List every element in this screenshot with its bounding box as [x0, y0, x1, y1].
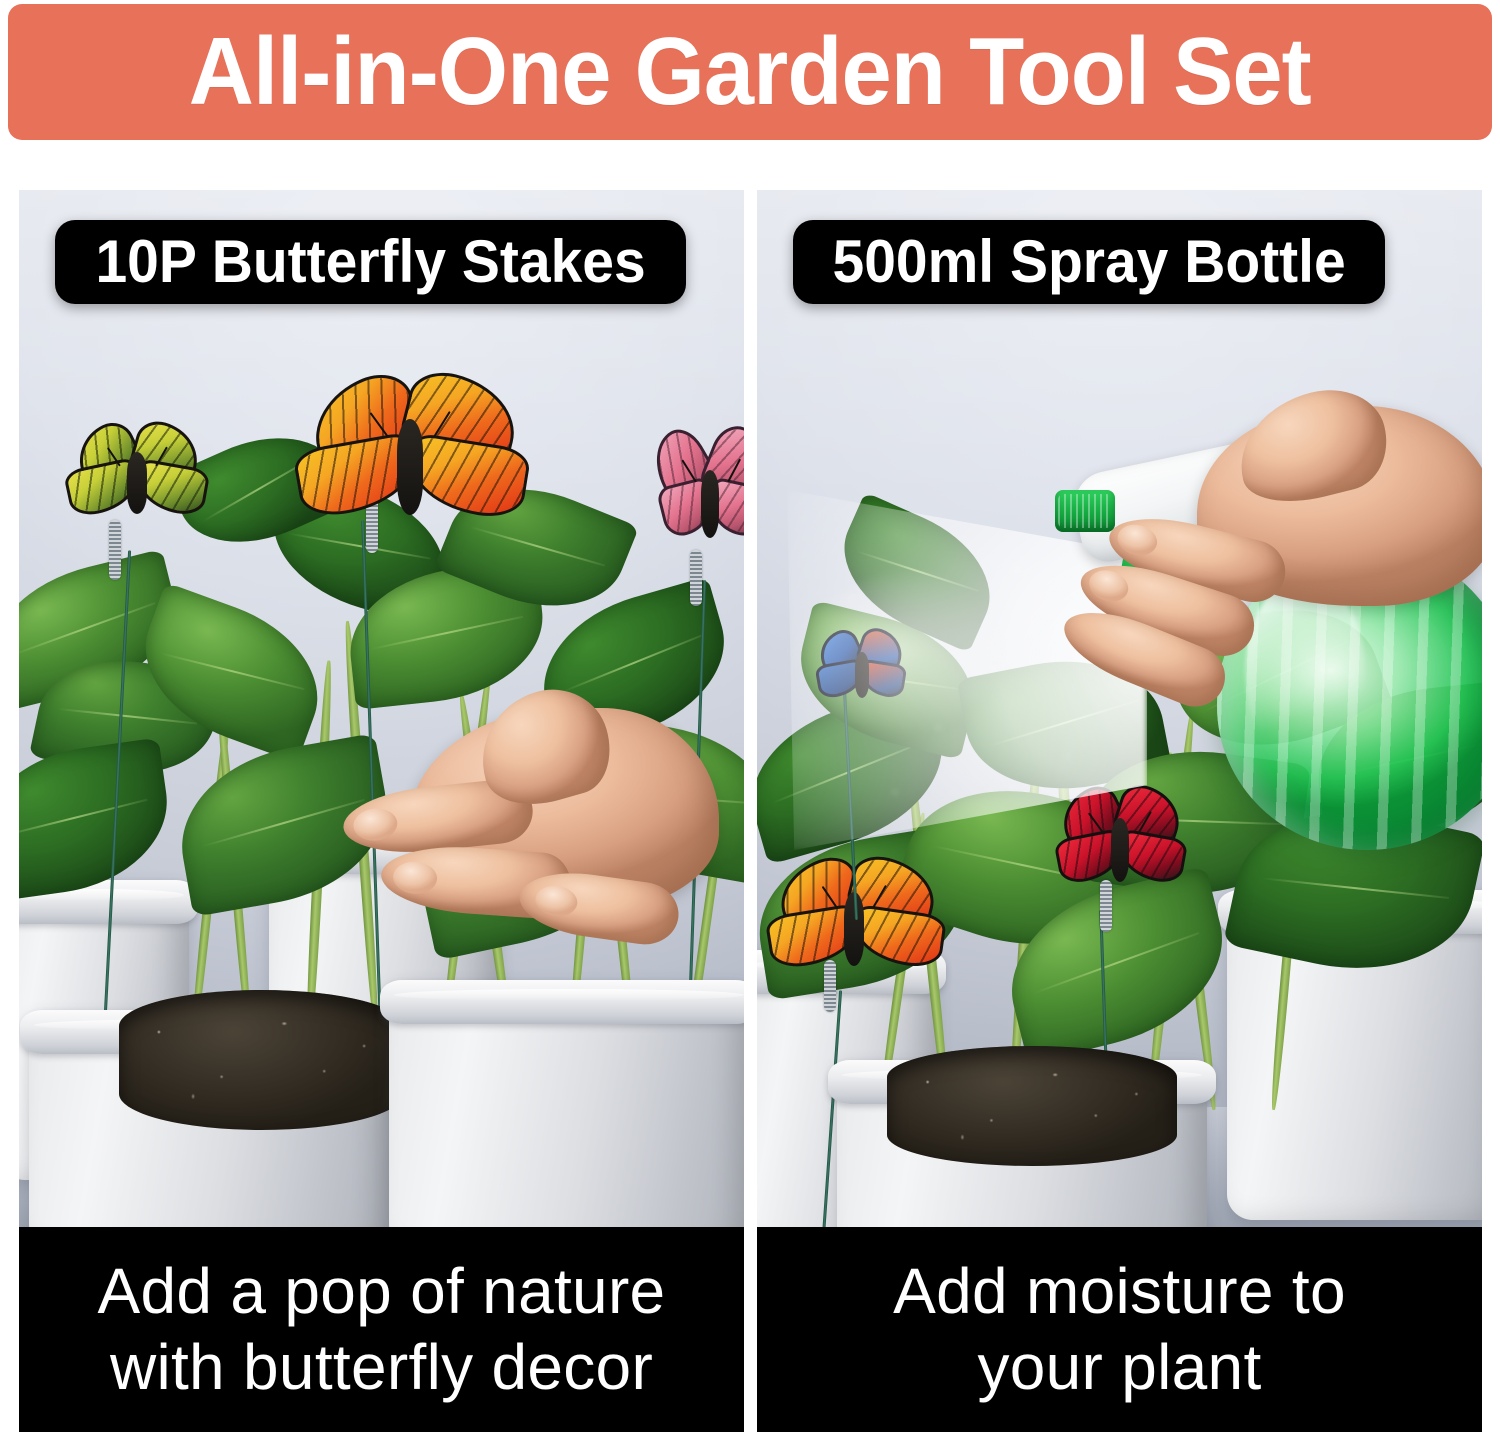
header-banner: All-in-One Garden Tool Set: [8, 4, 1492, 140]
butterfly-yellow-green: [59, 422, 219, 532]
fingernail: [352, 806, 399, 842]
caption-line-1: Add moisture to: [893, 1254, 1346, 1330]
spray-nozzle: [1055, 490, 1115, 532]
potting-soil: [887, 1046, 1177, 1166]
caption-line-2: with butterfly decor: [110, 1330, 653, 1406]
butterfly-orange-red: [762, 858, 952, 988]
badge-butterfly-stakes: 10P Butterfly Stakes: [55, 220, 686, 304]
fingernail: [1085, 565, 1132, 606]
caption-butterfly-stakes: Add a pop of nature with butterfly decor: [19, 1227, 744, 1432]
hand-holding-stake: [329, 690, 729, 1020]
badge-label: 10P Butterfly Stakes: [95, 232, 645, 292]
butterfly-stake-coil: [690, 550, 702, 606]
product-panel-butterfly-stakes: 10P Butterfly Stakes: [19, 190, 744, 1227]
caption-line-1: Add a pop of nature: [98, 1254, 666, 1330]
badge-label: 500ml Spray Bottle: [833, 232, 1346, 292]
butterfly-orange-red: [287, 375, 537, 540]
butterfly-pink: [639, 428, 744, 558]
caption-line-2: your plant: [977, 1330, 1261, 1406]
product-panel-spray-bottle: 500ml Spray Bottle: [757, 190, 1482, 1227]
page-title: All-in-One Garden Tool Set: [189, 24, 1311, 120]
hand-holding-bottle: [1117, 400, 1482, 730]
badge-spray-bottle: 500ml Spray Bottle: [793, 220, 1385, 304]
fingernail: [392, 860, 438, 895]
caption-spray-bottle: Add moisture to your plant: [757, 1227, 1482, 1432]
fingernail: [534, 883, 580, 919]
fingernail: [1114, 521, 1160, 560]
